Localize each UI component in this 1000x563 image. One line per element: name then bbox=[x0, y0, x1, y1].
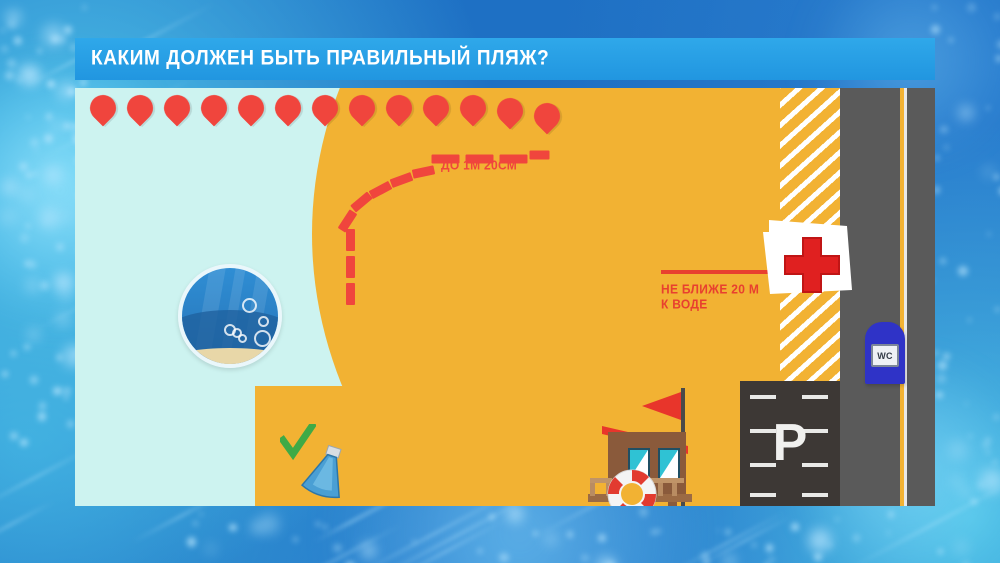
bokeh-dot bbox=[58, 36, 65, 43]
bokeh-dot bbox=[229, 524, 236, 531]
bubble-icon bbox=[238, 334, 247, 343]
bokeh-dot bbox=[752, 543, 755, 546]
bokeh-dot bbox=[987, 232, 991, 236]
bokeh-dot bbox=[938, 361, 948, 371]
bokeh-dot bbox=[7, 59, 16, 68]
beach-diagram: P ДО 1М 20СМ НЕ БЛИЖЕ 20 М К ВОДЕ bbox=[75, 88, 935, 506]
bokeh-dot bbox=[206, 544, 216, 554]
bokeh-dot bbox=[63, 122, 71, 130]
page-title: КАКИМ ДОЛЖЕН БЫТЬ ПРАВИЛЬНЫЙ ПЛЯЖ? bbox=[75, 47, 549, 72]
bokeh-dot bbox=[938, 549, 943, 554]
lifeguard-tower-icon bbox=[570, 384, 700, 506]
bokeh-dot bbox=[598, 534, 606, 542]
bokeh-dot bbox=[316, 522, 320, 526]
bokeh-dot bbox=[962, 488, 971, 497]
bokeh-dot bbox=[499, 553, 509, 563]
parking-dash bbox=[750, 493, 776, 497]
bokeh-dot bbox=[34, 149, 37, 152]
flask-icon bbox=[297, 444, 355, 502]
bokeh-dot bbox=[940, 126, 948, 134]
bokeh-dot bbox=[252, 522, 262, 532]
bokeh-dot bbox=[968, 434, 972, 438]
bokeh-dot bbox=[937, 374, 946, 383]
bokeh-dot bbox=[46, 113, 53, 120]
bokeh-dot bbox=[952, 476, 963, 487]
wc-cabin: WC bbox=[865, 322, 905, 384]
bokeh-dot bbox=[20, 233, 29, 242]
bokeh-dot bbox=[968, 318, 972, 322]
road-shoulder bbox=[907, 88, 935, 506]
bokeh-dot bbox=[30, 138, 39, 147]
parking-dash bbox=[802, 395, 828, 399]
bokeh-dot bbox=[187, 537, 196, 546]
distance-label-line1: НЕ БЛИЖЕ 20 М bbox=[661, 281, 759, 297]
bokeh-dot bbox=[47, 80, 54, 87]
underwater-view-icon bbox=[178, 264, 282, 368]
bokeh-dot bbox=[853, 534, 861, 542]
bokeh-dot bbox=[20, 439, 27, 446]
bokeh-dot bbox=[5, 71, 14, 80]
bokeh-dot bbox=[64, 26, 71, 33]
bokeh-dot bbox=[44, 134, 54, 144]
bokeh-dot bbox=[1, 29, 5, 33]
bokeh-dot bbox=[948, 440, 968, 460]
bokeh-dot bbox=[1, 46, 7, 52]
bokeh-dot bbox=[30, 376, 38, 384]
bokeh-dot bbox=[546, 534, 556, 544]
bokeh-dot bbox=[935, 156, 938, 159]
bokeh-dot bbox=[986, 106, 989, 109]
bokeh-dot bbox=[40, 281, 49, 290]
parking-dash bbox=[750, 395, 776, 399]
bokeh-dot bbox=[809, 529, 832, 552]
bokeh-dot bbox=[26, 224, 30, 228]
bokeh-dot bbox=[994, 13, 1000, 20]
bokeh-dot bbox=[888, 511, 894, 517]
bokeh-dot bbox=[26, 279, 39, 292]
bokeh-dot bbox=[53, 387, 61, 395]
bubble-icon bbox=[224, 324, 236, 336]
parking-dash bbox=[802, 493, 828, 497]
bokeh-dot bbox=[26, 115, 30, 119]
header-bar: КАКИМ ДОЛЖЕН БЫТЬ ПРАВИЛЬНЫЙ ПЛЯЖ? bbox=[75, 38, 935, 80]
bokeh-dot bbox=[0, 209, 16, 225]
bokeh-dot bbox=[67, 420, 74, 427]
parking-letter: P bbox=[773, 416, 808, 468]
bokeh-dot bbox=[199, 512, 203, 516]
bokeh-dot bbox=[57, 82, 75, 100]
bokeh-dot bbox=[724, 555, 735, 563]
bokeh-dot bbox=[936, 392, 943, 399]
bokeh-dot bbox=[995, 307, 1000, 312]
bubble-icon bbox=[242, 298, 257, 313]
bokeh-dot bbox=[37, 48, 43, 54]
depth-dash-segment bbox=[346, 256, 355, 278]
parking-lot: P bbox=[740, 381, 840, 506]
bokeh-dot bbox=[293, 537, 298, 542]
depth-label: ДО 1М 20СМ bbox=[441, 157, 517, 172]
bokeh-dot bbox=[993, 460, 997, 464]
distance-label-line2: К ВОДЕ bbox=[661, 296, 708, 312]
bokeh-dot bbox=[38, 412, 46, 420]
bokeh-dot bbox=[955, 541, 968, 554]
bokeh-dot bbox=[11, 351, 16, 356]
bokeh-dot bbox=[725, 529, 731, 535]
depth-dash-segment bbox=[346, 283, 355, 305]
distance-rule bbox=[661, 270, 769, 274]
bokeh-dot bbox=[986, 450, 991, 455]
bokeh-dot bbox=[17, 78, 21, 82]
bokeh-dot bbox=[39, 402, 46, 409]
bubble-icon bbox=[258, 316, 269, 327]
bokeh-dot bbox=[14, 37, 21, 44]
bokeh-dot bbox=[940, 258, 946, 264]
bokeh-dot bbox=[717, 529, 720, 532]
bokeh-dot bbox=[983, 167, 994, 178]
bokeh-dot bbox=[768, 556, 775, 563]
bokeh-dot bbox=[259, 514, 279, 534]
bokeh-dot bbox=[44, 166, 62, 184]
bokeh-dot bbox=[7, 11, 20, 24]
bokeh-dot bbox=[61, 211, 73, 223]
bubble-icon bbox=[254, 330, 271, 347]
bokeh-dot bbox=[993, 414, 1000, 421]
depth-dash-segment bbox=[346, 229, 355, 251]
bokeh-dot bbox=[82, 5, 87, 10]
medical-tent-icon bbox=[759, 206, 863, 310]
bokeh-dot bbox=[567, 531, 573, 537]
bokeh-dot bbox=[766, 544, 774, 552]
depth-dash-segment bbox=[530, 151, 550, 160]
bokeh-dot bbox=[996, 55, 1000, 62]
bokeh-dot bbox=[814, 553, 821, 560]
wc-sign: WC bbox=[871, 344, 899, 367]
bokeh-dot bbox=[977, 481, 985, 489]
